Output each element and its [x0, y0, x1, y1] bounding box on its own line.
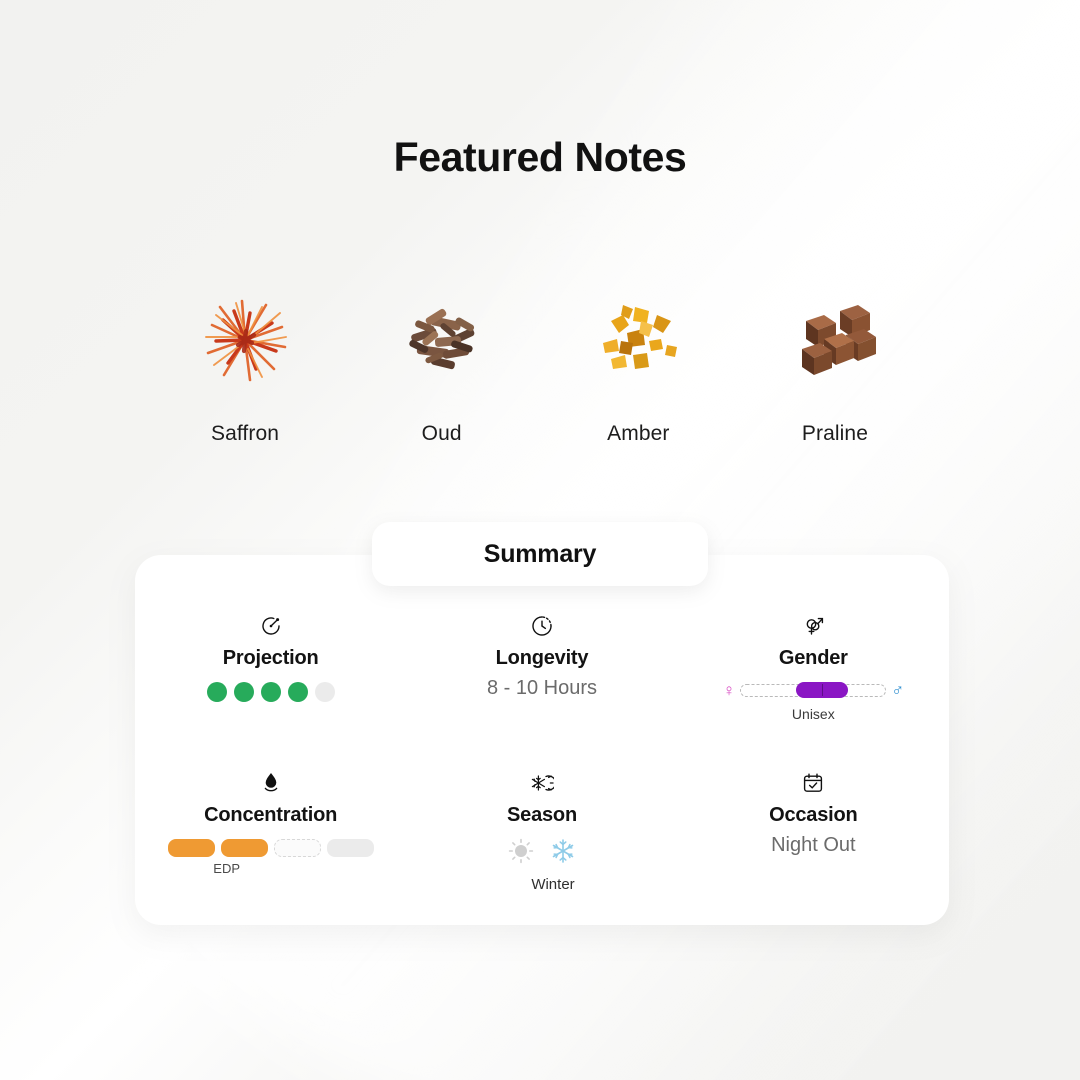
- page-title: Featured Notes: [0, 134, 1080, 181]
- summary-cell-longevity: Longevity 8 - 10 Hours: [406, 613, 677, 722]
- saffron-threads-image: [190, 285, 300, 395]
- projection-dot-3: [261, 682, 281, 702]
- summary-cell-concentration: Concentration EDP: [135, 770, 406, 893]
- projection-dot-1: [207, 682, 227, 702]
- cell-title: Projection: [223, 647, 319, 670]
- note-item-oud[interactable]: Oud: [352, 285, 532, 446]
- cell-title: Gender: [779, 647, 848, 670]
- concentration-segment-2: [221, 839, 268, 857]
- note-item-saffron[interactable]: Saffron: [155, 285, 335, 446]
- note-label: Saffron: [211, 422, 279, 446]
- page-root: Featured Notes: [0, 0, 1080, 1080]
- cell-title: Occasion: [769, 804, 857, 827]
- concentration-segment-3: [274, 839, 321, 857]
- gender-fill-handle[interactable]: [796, 682, 848, 698]
- summary-cell-occasion: Occasion Night Out: [678, 770, 949, 893]
- praline-chocolate-image: [780, 285, 890, 395]
- cell-title: Concentration: [204, 804, 337, 827]
- summary-cell-gender: Gender ♀ ♂ Unisex: [678, 613, 949, 722]
- gauge-icon: [259, 613, 283, 639]
- droplet-icon: [259, 770, 283, 796]
- concentration-bars: [168, 839, 374, 857]
- gender-track[interactable]: [740, 684, 886, 697]
- note-label: Amber: [607, 422, 669, 446]
- gender-slider[interactable]: ♀ ♂: [723, 682, 905, 699]
- occasion-value: Night Out: [771, 834, 855, 857]
- concentration-segment-4: [327, 839, 374, 857]
- season-icons: [508, 838, 576, 869]
- snowflake-icon[interactable]: [550, 838, 576, 869]
- summary-pill: Summary: [372, 522, 708, 586]
- summary-pill-label: Summary: [484, 540, 597, 569]
- sun-icon[interactable]: [508, 838, 534, 869]
- gender-caption: Unisex: [792, 706, 835, 722]
- calendar-check-icon: [801, 770, 825, 796]
- season-caption: Winter: [531, 876, 574, 893]
- cell-title: Longevity: [496, 647, 589, 670]
- projection-dot-5: [315, 682, 335, 702]
- featured-notes-row: Saffron: [155, 285, 925, 446]
- note-item-amber[interactable]: Amber: [548, 285, 728, 446]
- note-item-praline[interactable]: Praline: [745, 285, 925, 446]
- cell-title: Season: [507, 804, 577, 827]
- summary-grid: Projection: [135, 613, 949, 893]
- oud-chips-image: [387, 285, 497, 395]
- male-symbol-icon: ♂: [891, 682, 904, 699]
- longevity-value: 8 - 10 Hours: [487, 677, 597, 700]
- projection-dot-2: [234, 682, 254, 702]
- female-symbol-icon: ♀: [723, 682, 736, 699]
- projection-dot-4: [288, 682, 308, 702]
- summary-card: Projection: [135, 555, 949, 925]
- clock-icon: [530, 613, 554, 639]
- gender-venus-mars-icon: [801, 613, 825, 639]
- sun-snowflake-icon: [530, 770, 554, 796]
- concentration-caption: EDP: [213, 861, 240, 876]
- amber-crystals-image: [583, 285, 693, 395]
- note-label: Praline: [802, 422, 868, 446]
- summary-cell-projection: Projection: [135, 613, 406, 722]
- concentration-segment-1: [168, 839, 215, 857]
- projection-dots: [207, 682, 335, 702]
- note-label: Oud: [422, 422, 462, 446]
- summary-cell-season: Season: [406, 770, 677, 893]
